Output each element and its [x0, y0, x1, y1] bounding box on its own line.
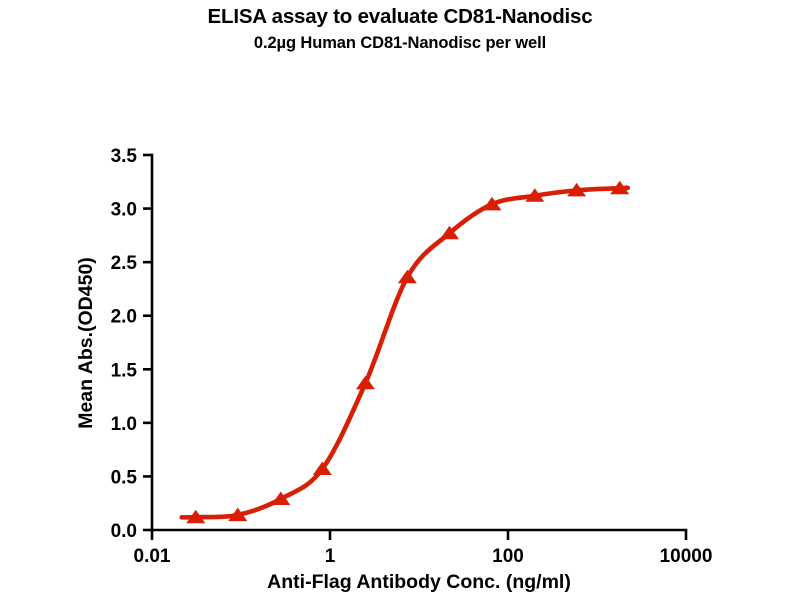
data-point-marker [398, 270, 417, 284]
y-axis-tick-labels: 0.00.51.01.52.02.53.03.5 [111, 146, 138, 542]
chart-plot-area: 0.00.51.01.52.02.53.03.5 0.01110010000 M… [0, 0, 800, 600]
x-tick-label-1: 1 [325, 546, 336, 567]
y-tick-label-0.0: 0.0 [111, 521, 137, 542]
elisa-chart-figure: ELISA assay to evaluate CD81-Nanodisc 0.… [0, 0, 800, 600]
y-axis-title: Mean Abs.(OD450) [75, 257, 97, 429]
y-tick-label-3.5: 3.5 [111, 146, 138, 167]
y-tick-label-1.0: 1.0 [111, 414, 137, 435]
axis-tick-marks [143, 155, 686, 540]
x-axis-title: Anti-Flag Antibody Conc. (ng/ml) [267, 571, 571, 593]
y-tick-label-3.0: 3.0 [111, 200, 137, 221]
y-tick-label-0.5: 0.5 [111, 467, 138, 488]
x-tick-label-10000: 10000 [660, 546, 713, 567]
x-axis-tick-labels: 0.01110010000 [134, 546, 713, 567]
x-tick-label-100: 100 [492, 546, 524, 567]
y-tick-label-2.0: 2.0 [111, 307, 137, 328]
series-curve-human-cd81-nanodisc [182, 188, 628, 518]
y-tick-label-1.5: 1.5 [111, 360, 138, 381]
data-point-marker [313, 462, 332, 476]
y-tick-label-2.5: 2.5 [111, 253, 138, 274]
series-markers [186, 181, 629, 523]
data-point-marker [356, 376, 375, 390]
x-tick-label-0.01: 0.01 [134, 546, 171, 567]
